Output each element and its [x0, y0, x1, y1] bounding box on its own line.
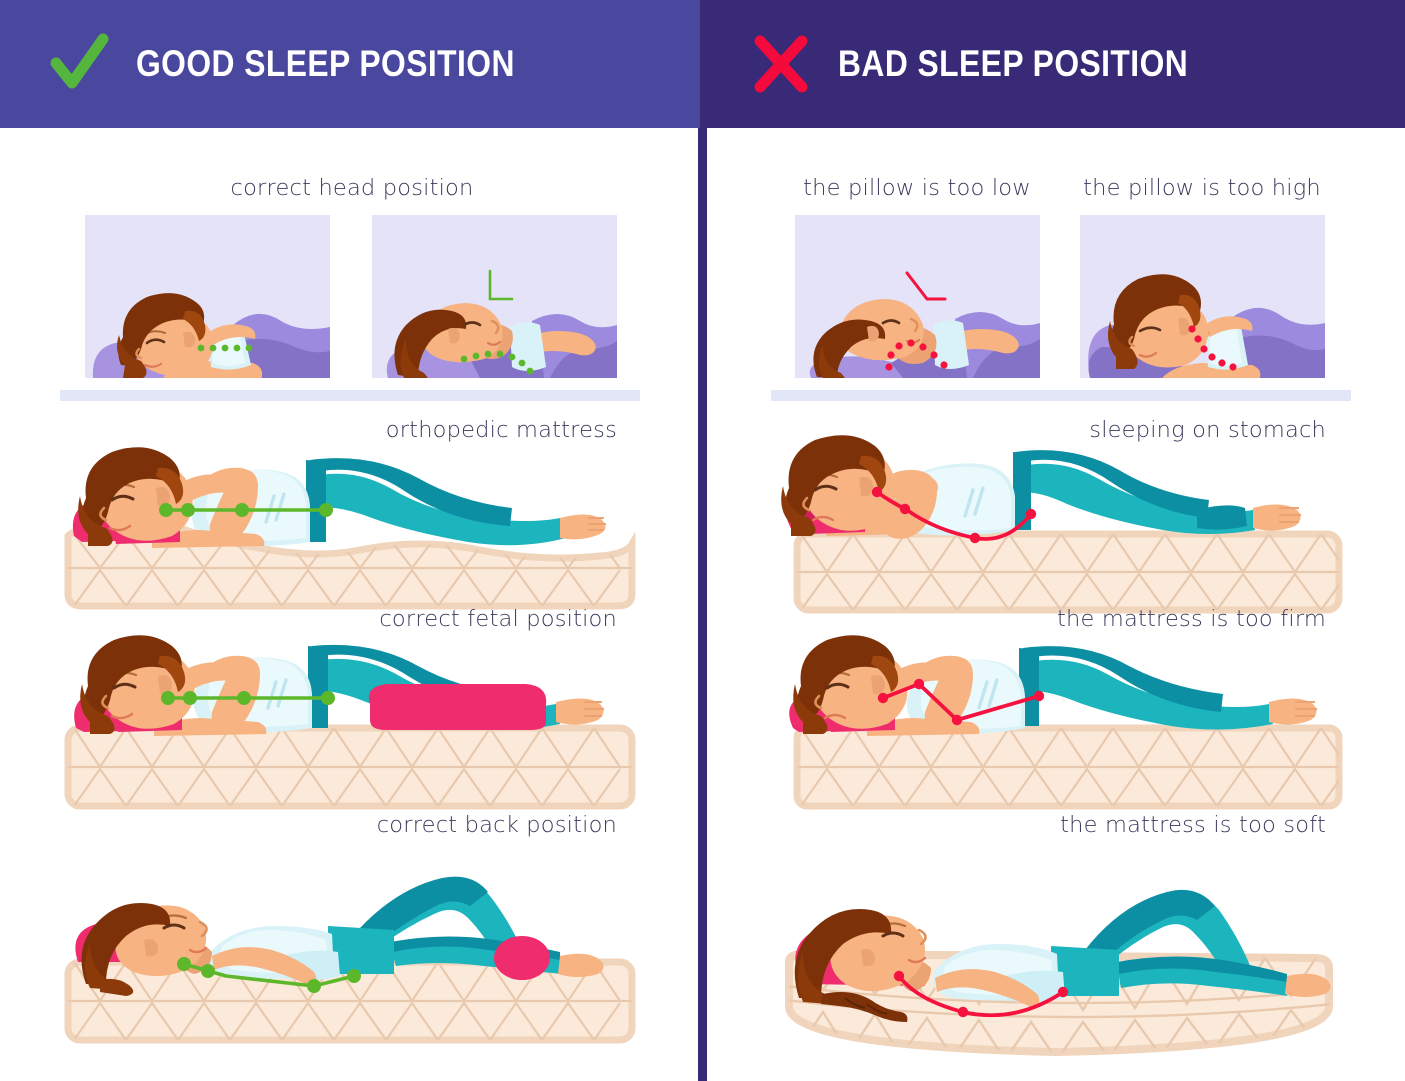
thumbnail-back-sleeper-contour-pillow — [372, 215, 617, 378]
cross-icon — [750, 33, 812, 95]
scene-correct-fetal-position — [60, 628, 640, 818]
mattress-firm-flat — [68, 728, 640, 806]
caption-pillow-too-low: the pillow is too low — [803, 175, 1031, 201]
mattress-flat-rigid — [797, 728, 1347, 806]
thumbnail-side-sleeper-high-pillow — [1080, 215, 1325, 378]
thumbnail-side-sleeper-flat-pillow — [85, 215, 330, 378]
good-sleep-column: correct head position — [0, 128, 698, 1081]
caption-pillow-too-high: the pillow is too high — [1083, 175, 1321, 201]
column-divider — [698, 128, 707, 1081]
header-good-half: GOOD SLEEP POSITION — [0, 0, 700, 128]
header-good-title: GOOD SLEEP POSITION — [136, 43, 515, 85]
thumbnail-back-sleeper-low-pillow — [795, 215, 1040, 378]
scene-orthopedic-mattress — [60, 438, 640, 618]
scene-correct-back-position — [60, 834, 640, 1054]
mattress-flat — [797, 534, 1347, 610]
header: GOOD SLEEP POSITION BAD SLEEP POSITION — [0, 0, 1405, 128]
check-icon — [48, 33, 110, 95]
infographic-root: GOOD SLEEP POSITION BAD SLEEP POSITION c… — [0, 0, 1405, 1081]
separator-bar-left — [60, 390, 640, 401]
scene-sleeping-on-stomach — [767, 434, 1347, 618]
bad-sleep-column: the pillow is too low the pillow is too … — [707, 128, 1405, 1081]
header-bad-half: BAD SLEEP POSITION — [700, 0, 1405, 128]
scene-mattress-too-soft — [767, 834, 1347, 1064]
caption-correct-head-position: correct head position — [231, 175, 474, 201]
header-bad-title: BAD SLEEP POSITION — [838, 43, 1188, 85]
scene-mattress-too-firm — [767, 628, 1347, 818]
separator-bar-right — [771, 390, 1351, 401]
